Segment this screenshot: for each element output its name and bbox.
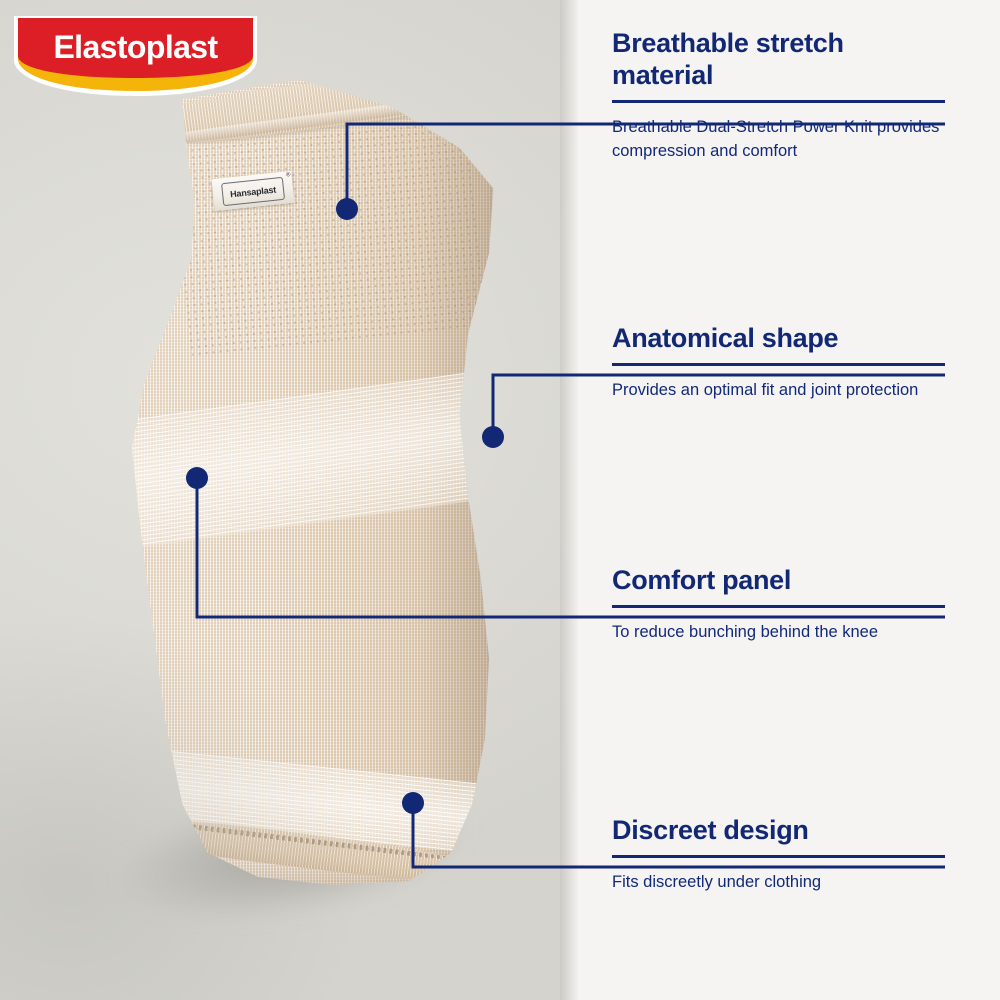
product-photo-panel: Hansaplast ® [0, 0, 578, 1000]
feature-block-3: Comfort panel To reduce bunching behind … [612, 565, 947, 660]
elastoplast-logo: Elastoplast [14, 16, 257, 96]
product-label-text: Hansaplast [230, 184, 277, 199]
feature-title-3: Comfort panel [612, 565, 947, 597]
feature-description-4: Fits discreetly under clothing [612, 870, 947, 894]
infographic-canvas: Hansaplast ® Elastoplast [0, 0, 1000, 1000]
feature-description-2: Provides an optimal fit and joint protec… [612, 378, 947, 402]
logo-wordmark: Elastoplast [14, 16, 257, 78]
feature-rule-2 [612, 363, 945, 366]
comfort-panel-band [105, 368, 519, 550]
feature-title-4: Discreet design [612, 815, 947, 847]
feature-rule-1 [612, 100, 945, 103]
panel-edge-gradient [560, 0, 578, 1000]
knee-support-sleeve [90, 75, 510, 885]
feature-description-3: To reduce bunching behind the knee [612, 620, 947, 644]
feature-description-1: Breathable Dual-Stretch Power Knit provi… [612, 115, 947, 163]
feature-block-1: Breathable stretch material Breathable D… [612, 28, 947, 179]
feature-rule-3 [612, 605, 945, 608]
feature-block-4: Discreet design Fits discreetly under cl… [612, 815, 947, 910]
product-label-frame: Hansaplast ® [221, 176, 285, 205]
mesh-knit-zone [170, 120, 490, 360]
feature-title-1: Breathable stretch material [612, 28, 947, 92]
product-image: Hansaplast ® [55, 75, 555, 885]
registered-trademark-icon: ® [286, 172, 291, 178]
feature-rule-4 [612, 855, 945, 858]
feature-title-2: Anatomical shape [612, 323, 947, 355]
feature-block-2: Anatomical shape Provides an optimal fit… [612, 323, 947, 418]
